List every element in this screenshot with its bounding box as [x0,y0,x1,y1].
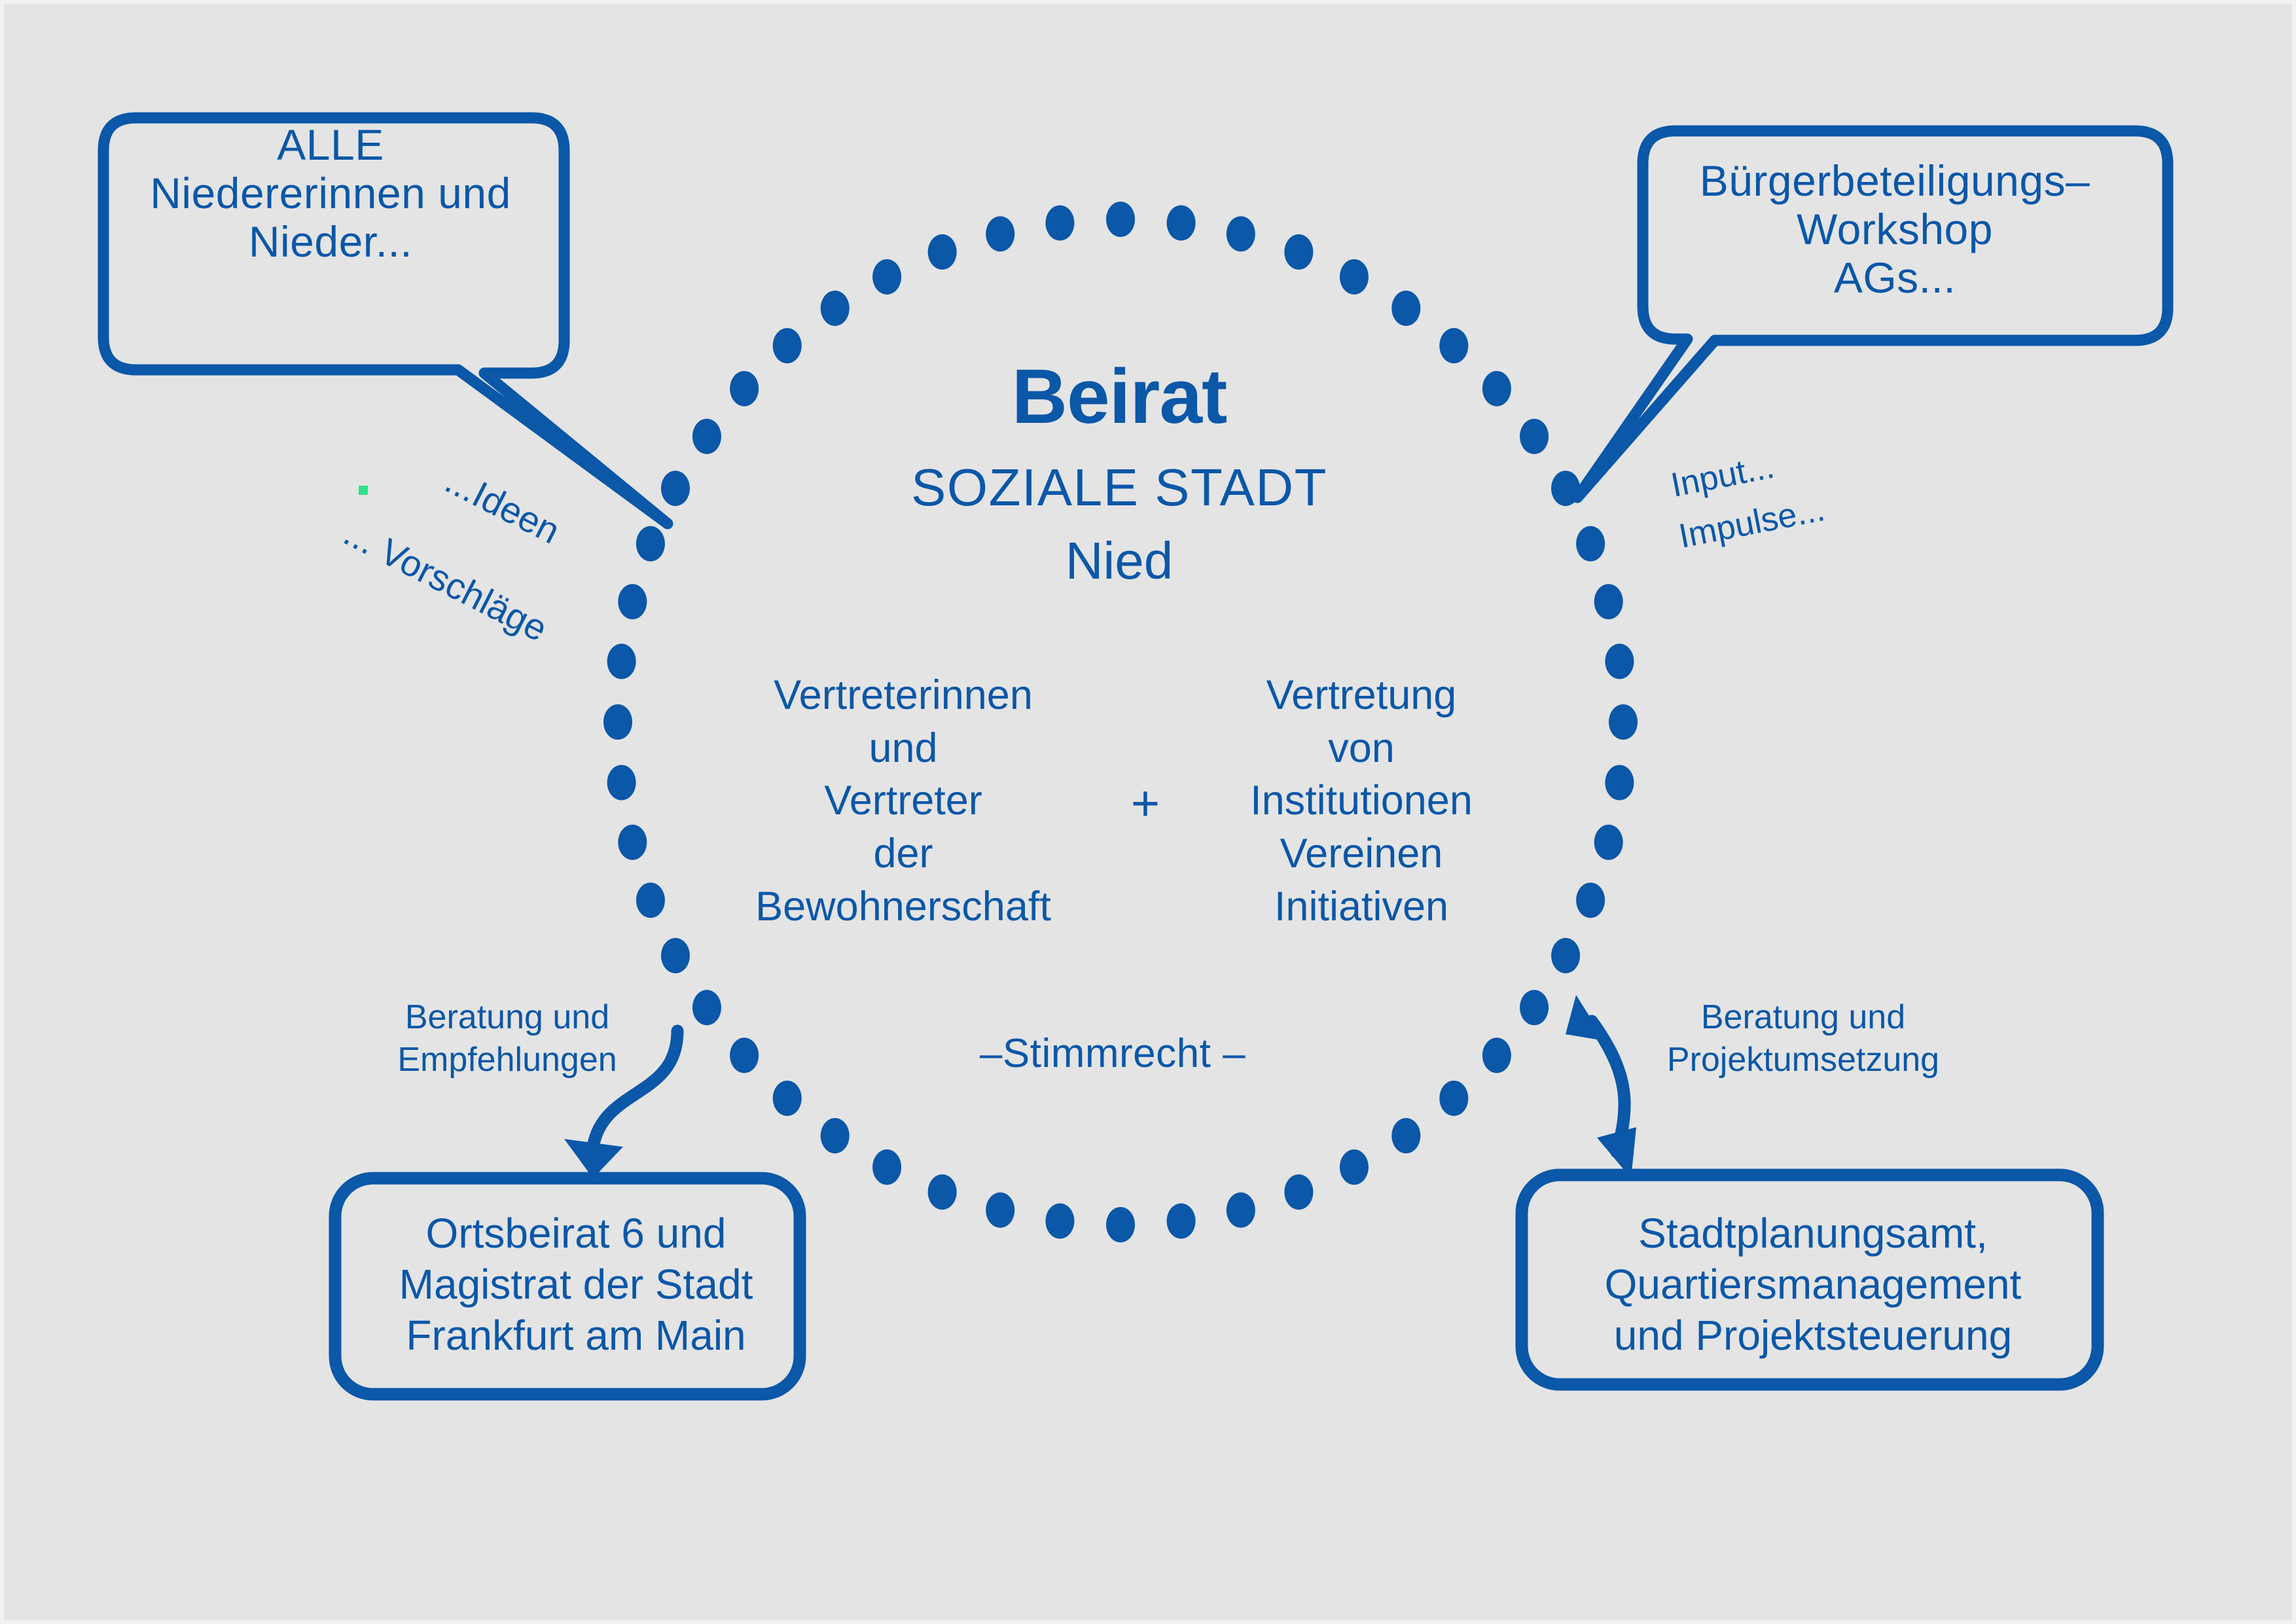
ring-dot [730,371,759,406]
ring-dot [1340,259,1369,295]
ring-dot [1045,206,1074,241]
ring-dot [730,1038,759,1073]
ring-dot [821,1118,850,1153]
ring-dot [1391,291,1420,326]
ring-dot [661,938,690,973]
ring-dot [1439,1081,1468,1116]
ring-dot [986,216,1014,251]
plus-symbol: + [1086,776,1204,831]
ring-dot [1106,202,1135,237]
ring-dot [636,882,665,918]
ring-dot [1340,1149,1369,1185]
center-subtitle-line1: SOZIALE STADT [772,458,1466,517]
ring-dot [1284,234,1313,270]
ring-dot [821,291,850,326]
ring-dot [1605,765,1634,801]
bubble-right-text: Bürgerbeteiligungs– Workshop AGs... [1666,157,2124,302]
box-left-text: Ortsbeirat 6 und Magistrat der Stadt Fra… [340,1208,812,1361]
center-footer-stimmrecht: –Stimmrecht – [903,1031,1322,1076]
ring-dot [692,990,721,1025]
ring-dot [1576,882,1605,918]
green-speck-artifact [359,486,368,495]
ring-dot [1520,990,1549,1025]
ring-dot [618,584,647,619]
ring-dot [1482,371,1511,406]
ring-dot [872,1149,901,1185]
center-title: Beirat [772,353,1466,440]
ring-dot [1609,704,1638,740]
ring-dot [986,1193,1014,1228]
ring-dot [928,1174,957,1210]
ring-dot [1284,1174,1313,1210]
arrow-label-left: Beratung und Empfehlungen [353,996,661,1081]
center-subtitle-line2: Nied [772,532,1466,590]
bubble-left-text: ALLE Niedererinnen und Nieder... [98,121,563,266]
box-right-text: Stadtplanungsamt, Quartiersmanagement un… [1525,1208,2101,1361]
ring-dot [1045,1203,1074,1238]
arrow-label-right: Beratung und Projektumsetzung [1640,996,1967,1081]
ring-dot [661,471,690,506]
ring-dot [607,643,636,679]
ring-dot [692,419,721,454]
ring-dot [872,259,901,295]
center-column-right: Vertretung von Institutionen Vereinen In… [1191,669,1532,933]
ring-dot [1594,584,1623,619]
ring-dot [1482,1038,1511,1073]
ring-dot [1167,206,1196,241]
ring-dot [1227,1193,1255,1228]
ring-dot [1167,1203,1196,1238]
ring-dot [1520,419,1549,454]
ring-dot [607,765,636,801]
ring-dot [1576,526,1605,562]
ring-dot [636,526,665,562]
ring-dot [1594,825,1623,860]
ring-dot [1227,216,1255,251]
ring-dot [618,825,647,860]
arrow-right-bidirectional [1566,995,1636,1178]
ring-dot [928,234,957,270]
ring-dot [603,704,632,740]
ring-dot [1551,938,1580,973]
ring-dot [1391,1118,1420,1153]
diagram-canvas: ALLE Niedererinnen und Nieder... Bürgerb… [0,0,2296,1624]
ring-dot [773,1081,802,1116]
ring-dot [1605,643,1634,679]
center-column-left: Vertreterinnen und Vertreter der Bewohne… [700,669,1106,933]
ring-dot [1106,1207,1135,1242]
